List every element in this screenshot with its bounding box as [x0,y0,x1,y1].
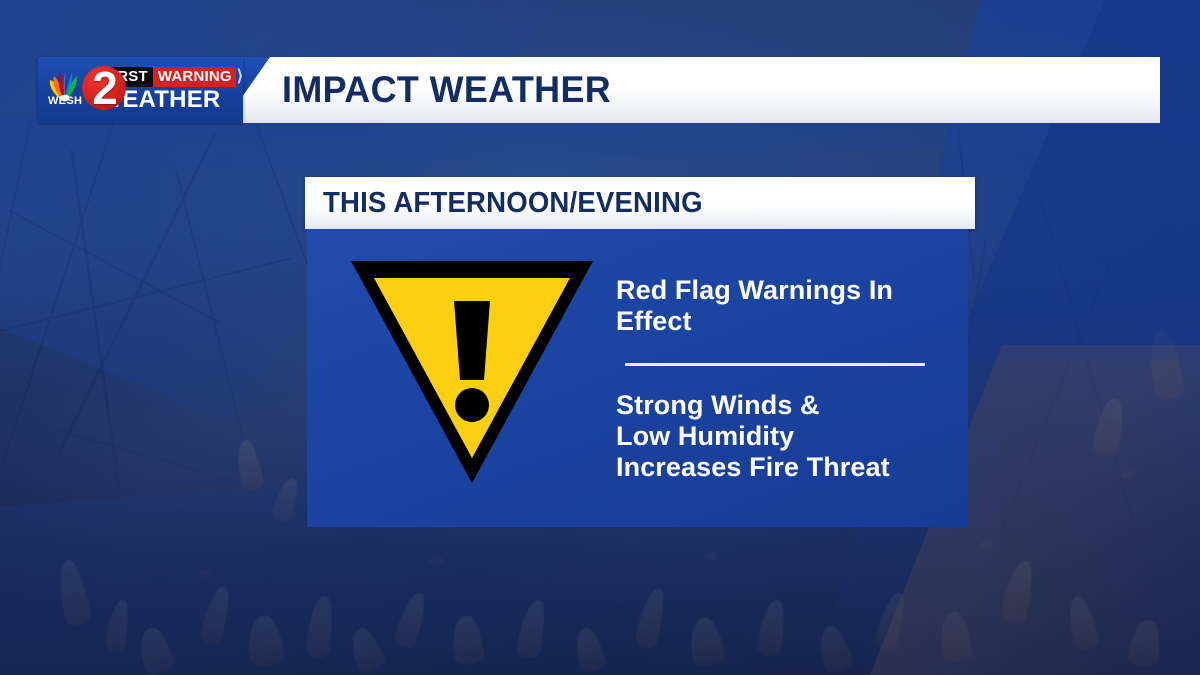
alert-panel: Red Flag Warnings In Effect Strong Winds… [307,229,968,527]
page-title: IMPACT WEATHER [282,57,611,123]
broadcast-graphic-stage: IMPACT WEATHER [0,0,1200,675]
alert-message-2-line-3: Increases Fire Threat [616,452,952,483]
nbc-peacock-icon: WESH [44,69,86,105]
timeframe-label: THIS AFTERNOON/EVENING [323,187,703,220]
alert-message-1-line-1: Red Flag Warnings In [616,275,952,306]
message-divider [625,363,925,366]
chevron-right-icon: ⟩ [237,68,243,86]
station-logo[interactable]: WESH 2 FIRST WARNING ⟩ WEATHER [38,57,243,123]
alert-message-2-line-1: Strong Winds & [616,390,952,421]
timeframe-bar: THIS AFTERNOON/EVENING [305,177,975,229]
alert-message-1: Red Flag Warnings In Effect [616,275,952,337]
alert-message-1-line-2: Effect [616,306,952,337]
alert-message-2: Strong Winds & Low Humidity Increases Fi… [616,390,952,483]
channel-number-badge: 2 [82,64,96,116]
alert-message-2-line-2: Low Humidity [616,421,952,452]
station-call-letters: WESH [48,95,82,107]
warning-triangle-exclamation-icon [347,255,597,487]
brand-warning-label: WARNING [153,67,236,87]
channel-number: 2 [82,60,128,116]
header: IMPACT WEATHER [38,57,1160,123]
alert-messages: Red Flag Warnings In Effect Strong Winds… [616,275,952,483]
